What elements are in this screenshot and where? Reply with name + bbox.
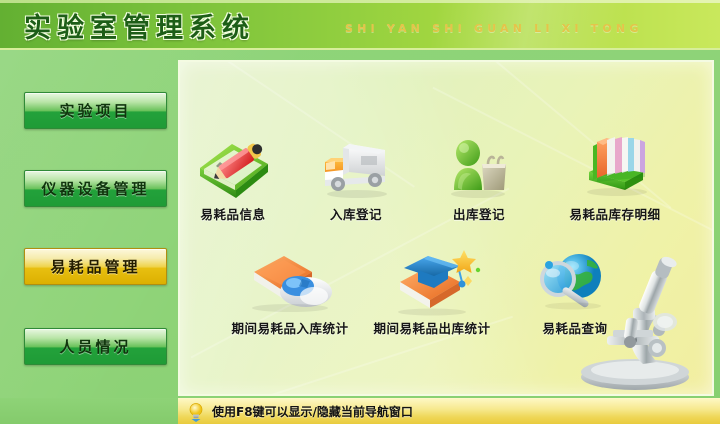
tile-consumable-info[interactable]: 易耗品信息 xyxy=(178,128,292,223)
sidebar-item-label: 人员情况 xyxy=(59,336,131,357)
book-mouse-icon xyxy=(210,242,370,318)
statusbar-left-filler xyxy=(0,398,178,424)
navigation-sidebar: 实验项目 仪器设备管理 易耗品管理 人员情况 xyxy=(0,50,178,424)
tile-period-stock-in-stats[interactable]: 期间易耗品入库统计 xyxy=(210,242,370,337)
tile-label: 期间易耗品出库统计 xyxy=(352,318,512,337)
delivery-truck-icon xyxy=(297,128,415,204)
statusbar-hint: 使用F8键可以显示/隐藏当前导航窗口 xyxy=(212,403,413,420)
person-shopping-bag-icon xyxy=(420,128,538,204)
tile-stock-out-registration[interactable]: 出库登记 xyxy=(420,128,538,223)
tile-label: 易耗品库存明细 xyxy=(540,204,690,223)
lightbulb-icon xyxy=(186,402,206,422)
book-pencil-icon xyxy=(178,128,292,204)
sidebar-item-consumables-management[interactable]: 易耗品管理 xyxy=(24,248,167,285)
sidebar-item-label: 实验项目 xyxy=(59,100,131,121)
microscope-image xyxy=(547,244,712,394)
sidebar-item-label: 易耗品管理 xyxy=(50,256,140,277)
book-stack-icon xyxy=(540,128,690,204)
tile-stock-in-registration[interactable]: 入库登记 xyxy=(297,128,415,223)
tile-period-stock-out-stats[interactable]: 期间易耗品出库统计 xyxy=(352,242,512,337)
status-bar: 使用F8键可以显示/隐藏当前导航窗口 xyxy=(178,398,720,424)
tile-label: 期间易耗品入库统计 xyxy=(210,318,370,337)
application-window: 实验室管理系统 SHI YAN SHI GUAN LI XI TONG 实验项目… xyxy=(0,0,720,424)
graduation-cap-book-icon xyxy=(352,242,512,318)
sidebar-item-equipment-management[interactable]: 仪器设备管理 xyxy=(24,170,167,207)
tile-label: 易耗品信息 xyxy=(178,204,292,223)
content-panel: 易耗品信息 xyxy=(178,60,714,396)
tile-label: 出库登记 xyxy=(420,204,538,223)
app-header: 实验室管理系统 SHI YAN SHI GUAN LI XI TONG xyxy=(0,0,720,50)
sidebar-item-experiment-project[interactable]: 实验项目 xyxy=(24,92,167,129)
tile-label: 入库登记 xyxy=(297,204,415,223)
app-title: 实验室管理系统 xyxy=(24,6,255,45)
app-subtitle: SHI YAN SHI GUAN LI XI TONG xyxy=(345,22,643,35)
sidebar-item-personnel[interactable]: 人员情况 xyxy=(24,328,167,365)
sidebar-item-label: 仪器设备管理 xyxy=(41,178,149,199)
tile-consumable-inventory-detail[interactable]: 易耗品库存明细 xyxy=(540,128,690,223)
